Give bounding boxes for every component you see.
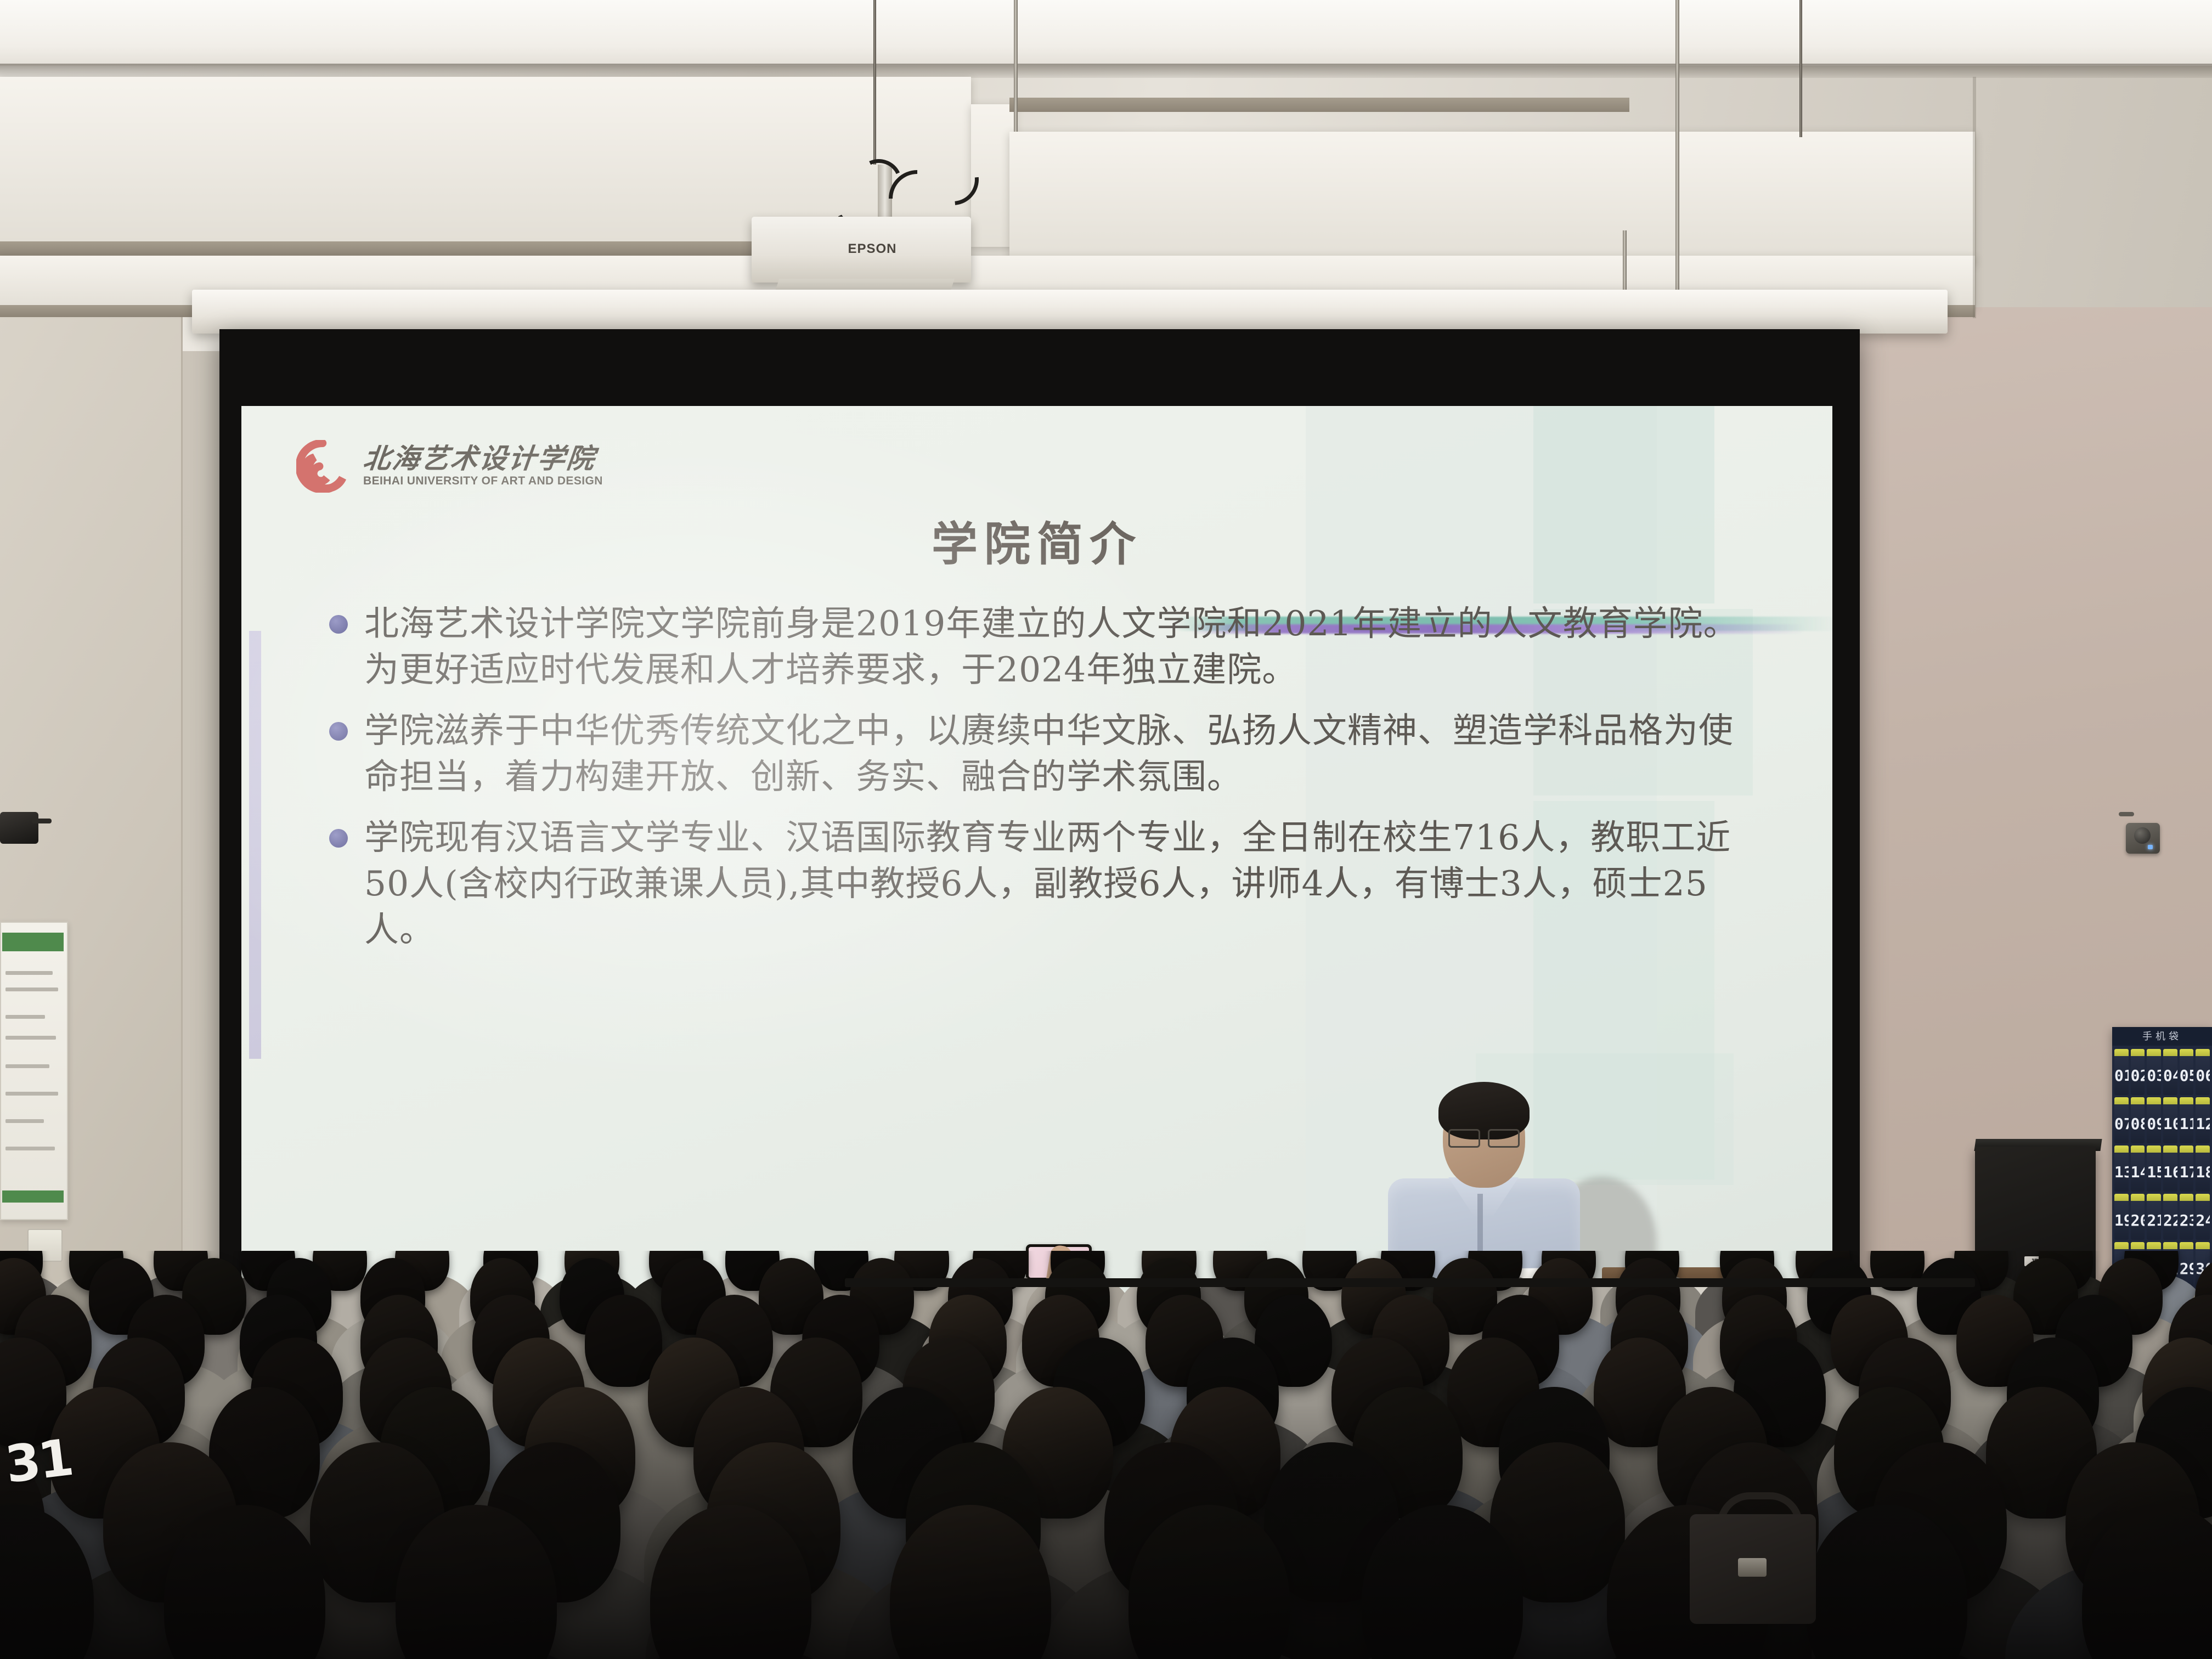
slide-bullet-item: 北海艺术设计学院文学院前身是2019年建立的人文学院和2021年建立的人文教育学… — [329, 601, 1756, 693]
pocket-lip — [2131, 1049, 2145, 1056]
poster-text-line — [5, 1064, 49, 1068]
phone-pocket-cell[interactable]: 18 — [2196, 1145, 2210, 1192]
slide-left-accent-bar — [249, 631, 261, 1059]
foreground-shadow-overlay — [0, 1404, 2212, 1659]
phone-pocket-cell[interactable]: 07 — [2114, 1097, 2129, 1143]
slide-bullet-list: 北海艺术设计学院文学院前身是2019年建立的人文学院和2021年建立的人文教育学… — [329, 601, 1756, 968]
pocket-lip — [2114, 1049, 2129, 1056]
pocket-number: 08 — [2131, 1115, 2145, 1133]
glasses-icon — [1448, 1129, 1520, 1144]
slide-decor-rect-1 — [1533, 406, 1714, 603]
slide-logo-en-name: BEIHAI UNIVERSITY OF ART AND DESIGN — [363, 475, 603, 488]
phone-pocket-cell[interactable]: 15 — [2147, 1145, 2161, 1192]
poster-text-line — [5, 1092, 58, 1096]
poster-text-line — [5, 971, 53, 975]
pocket-lip — [2180, 1097, 2194, 1104]
pocket-row: 192021222324 — [2112, 1194, 2212, 1240]
pocket-lip — [2180, 1145, 2194, 1153]
wall-seam-right — [1973, 77, 1976, 318]
pocket-number: 23 — [2180, 1211, 2194, 1229]
phone-pocket-cell[interactable]: 14 — [2131, 1145, 2145, 1192]
bag-clasp-icon — [1738, 1558, 1767, 1577]
pocket-number: 10 — [2163, 1115, 2177, 1133]
phone-pocket-cell[interactable]: 04 — [2163, 1049, 2177, 1095]
phone-pocket-cell[interactable]: 23 — [2180, 1194, 2194, 1240]
slide-bullet-text: 学院现有汉语言文学专业、汉语国际教育专业两个专业，全日制在校生716人，教职工近… — [364, 815, 1756, 953]
pocket-number: 11 — [2180, 1115, 2194, 1133]
pocket-number: 06 — [2196, 1066, 2210, 1085]
phone-pocket-cell[interactable]: 05 — [2180, 1049, 2194, 1095]
pocket-number: 21 — [2147, 1211, 2161, 1229]
slide-logo-cn-name: 北海艺术设计学院 — [362, 445, 604, 472]
room-rail — [845, 1278, 1975, 1287]
pocket-lip — [2114, 1145, 2129, 1153]
phone-pocket-cell[interactable]: 20 — [2131, 1194, 2145, 1240]
poster-text-line — [5, 1015, 45, 1019]
pocket-number: 12 — [2196, 1115, 2210, 1133]
camera-arm-right — [2119, 812, 2134, 816]
pocket-lip — [2163, 1242, 2177, 1249]
presenter-placket — [1477, 1194, 1483, 1260]
projector-brand-label: EPSON — [837, 241, 908, 257]
soffit-right — [1009, 132, 1975, 263]
camera-lens-icon — [2134, 827, 2151, 844]
pocket-lip — [2163, 1097, 2177, 1104]
poster-header-band — [2, 933, 64, 951]
pocket-lip — [2131, 1242, 2145, 1249]
phone-pocket-cell[interactable]: 03 — [2147, 1049, 2161, 1095]
phone-pocket-cell[interactable]: 02 — [2131, 1049, 2145, 1095]
pocket-lip — [2196, 1049, 2210, 1056]
ceiling-shadow — [0, 64, 2212, 78]
phone-pocket-cell[interactable]: 11 — [2180, 1097, 2194, 1143]
phone-pocket-cell[interactable]: 08 — [2131, 1097, 2145, 1143]
slide-bullet-item: 学院现有汉语言文学专业、汉语国际教育专业两个专业，全日制在校生716人，教职工近… — [329, 815, 1756, 953]
wall-camera-left-icon — [0, 812, 38, 844]
pocket-number: 09 — [2147, 1115, 2161, 1133]
pocket-number: 07 — [2114, 1115, 2129, 1133]
slide-bullet-item: 学院滋养于中华优秀传统文化之中，以赓续中华文脉、弘扬人文精神、塑造学科品格为使命… — [329, 708, 1756, 800]
phone-pocket-cell[interactable]: 06 — [2196, 1049, 2210, 1095]
bullet-dot-icon — [329, 615, 348, 634]
ceiling-band — [0, 0, 2212, 66]
pocket-lip — [2163, 1194, 2177, 1201]
pocket-lip — [2196, 1097, 2210, 1104]
slide-logo: 北海艺术设计学院 BEIHAI UNIVERSITY OF ART AND DE… — [296, 440, 603, 493]
pocket-number: 13 — [2114, 1163, 2129, 1181]
pocket-lip — [2147, 1097, 2161, 1104]
pocket-number: 19 — [2114, 1211, 2129, 1229]
pocket-lip — [2114, 1242, 2129, 1249]
pocket-lip — [2147, 1194, 2161, 1201]
pocket-lip — [2196, 1145, 2210, 1153]
phone-pocket-cell[interactable]: 21 — [2147, 1194, 2161, 1240]
slide-bullet-text: 学院滋养于中华优秀传统文化之中，以赓续中华文脉、弘扬人文精神、塑造学科品格为使命… — [364, 708, 1756, 800]
pocket-lip — [2147, 1242, 2161, 1249]
pocket-number: 17 — [2180, 1163, 2194, 1181]
screen-housing — [192, 290, 1948, 334]
pocket-lip — [2131, 1194, 2145, 1201]
ceiling-rod-right — [1675, 0, 1679, 329]
soffit-right-top — [1009, 98, 1629, 112]
phone-pocket-cell[interactable]: 16 — [2163, 1145, 2177, 1192]
pocket-number: 04 — [2163, 1066, 2177, 1085]
pocket-number: 20 — [2131, 1211, 2145, 1229]
pocket-lip — [2131, 1097, 2145, 1104]
student-jersey-number: 31 — [2, 1428, 75, 1494]
pocket-lip — [2147, 1049, 2161, 1056]
phone-pocket-cell[interactable]: 13 — [2114, 1145, 2129, 1192]
wall-notice-poster — [0, 922, 68, 1220]
pocket-lip — [2131, 1145, 2145, 1153]
poster-text-line — [5, 1036, 56, 1040]
slide-bullet-text: 北海艺术设计学院文学院前身是2019年建立的人文学院和2021年建立的人文教育学… — [364, 601, 1756, 693]
pocket-number: 14 — [2131, 1163, 2145, 1181]
phone-pocket-cell[interactable]: 24 — [2196, 1194, 2210, 1240]
pocket-number: 03 — [2147, 1066, 2161, 1085]
pocket-lip — [2196, 1194, 2210, 1201]
phone-pocket-cell[interactable]: 17 — [2180, 1145, 2194, 1192]
ceiling-rod-center — [1014, 0, 1018, 132]
pocket-number: 01 — [2114, 1066, 2129, 1085]
pocket-number: 18 — [2196, 1163, 2210, 1181]
poster-text-line — [5, 1147, 55, 1150]
pocket-row: 131415161718 — [2112, 1145, 2212, 1192]
ceiling-cable-right — [1799, 0, 1802, 137]
pocket-lip — [2180, 1049, 2194, 1056]
poster-footer-band — [2, 1190, 64, 1203]
poster-text-line — [5, 1119, 44, 1123]
lecture-hall-scene: EPSON 北海艺术设计学院 BEIHAI UNIVERSITY OF ART … — [0, 0, 2212, 1659]
phone-pocket-cell[interactable]: 12 — [2196, 1097, 2210, 1143]
phone-pocket-cell[interactable]: 01 — [2114, 1049, 2129, 1095]
pocket-lip — [2163, 1049, 2177, 1056]
swirl-logo-icon — [296, 440, 349, 493]
pocket-number: 24 — [2196, 1211, 2210, 1229]
phone-pocket-cell[interactable]: 10 — [2163, 1097, 2177, 1143]
pocket-lip — [2196, 1242, 2210, 1249]
bullet-dot-icon — [329, 829, 348, 848]
pocket-lip — [2180, 1242, 2194, 1249]
pocket-lip — [2114, 1097, 2129, 1104]
camera-arm-left — [32, 819, 52, 823]
pocket-lip — [2114, 1194, 2129, 1201]
phone-pocket-cell[interactable]: 22 — [2163, 1194, 2177, 1240]
pocket-lip — [2163, 1145, 2177, 1153]
pocket-number: 22 — [2163, 1211, 2177, 1229]
pocket-number: 15 — [2147, 1163, 2161, 1181]
pocket-lip — [2180, 1194, 2194, 1201]
pocket-lip — [2147, 1145, 2161, 1153]
pocket-number: 16 — [2163, 1163, 2177, 1181]
camera-led-icon — [2148, 845, 2153, 849]
pocket-organizer-header: 手机袋 — [2112, 1027, 2212, 1046]
phone-pocket-cell[interactable]: 19 — [2114, 1194, 2129, 1240]
pocket-row: 010203040506 — [2112, 1049, 2212, 1095]
pocket-row: 070809101112 — [2112, 1097, 2212, 1143]
slide-title: 学院简介 — [241, 521, 1832, 567]
bullet-dot-icon — [329, 722, 348, 741]
projector-cable — [873, 0, 876, 165]
pocket-number: 05 — [2180, 1066, 2194, 1085]
phone-pocket-cell[interactable]: 09 — [2147, 1097, 2161, 1143]
poster-text-line — [5, 988, 58, 991]
pocket-number: 02 — [2131, 1066, 2145, 1085]
